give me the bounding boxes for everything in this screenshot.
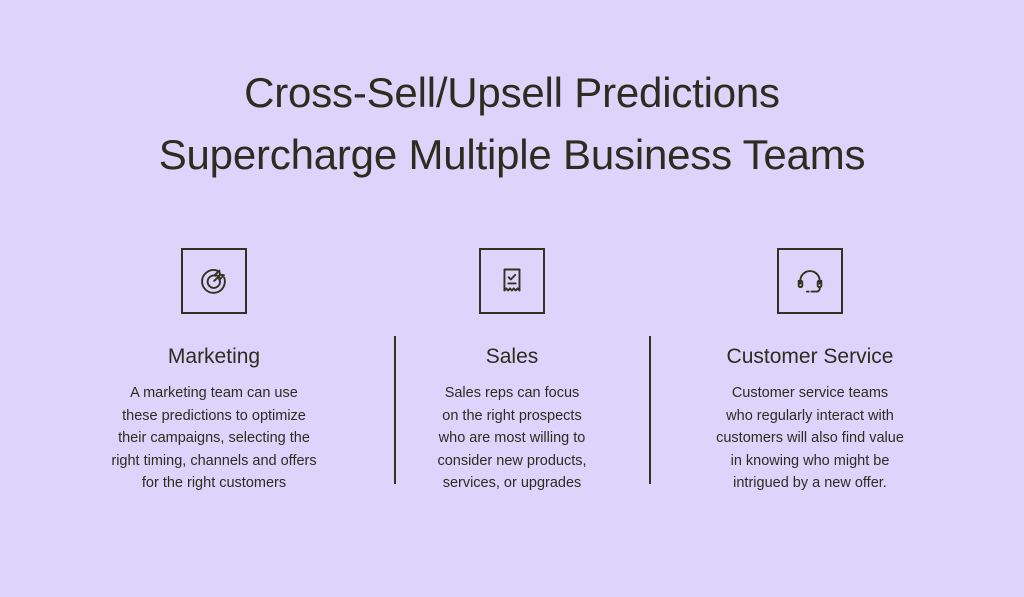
body-line: Sales reps can focus xyxy=(397,382,627,405)
title-line-2: Supercharge Multiple Business Teams xyxy=(0,124,1024,186)
body-line: their campaigns, selecting the xyxy=(99,427,329,450)
column-divider-1 xyxy=(394,336,396,484)
column-sales: Sales Sales reps can focus on the right … xyxy=(378,248,646,495)
body-line: on the right prospects xyxy=(397,405,627,428)
icon-frame-customer-service xyxy=(777,248,843,314)
column-heading-sales: Sales xyxy=(486,344,539,370)
icon-frame-sales xyxy=(479,248,545,314)
body-line: right timing, channels and offers xyxy=(99,450,329,473)
receipt-check-icon xyxy=(495,264,529,298)
body-line: these predictions to optimize xyxy=(99,405,329,428)
column-customer-service: Customer Service Customer service teams … xyxy=(676,248,944,495)
body-line: intrigued by a new offer. xyxy=(695,472,925,495)
column-body-customer-service: Customer service teams who regularly int… xyxy=(695,382,925,495)
body-line: who are most willing to xyxy=(397,427,627,450)
title-line-1: Cross-Sell/Upsell Predictions xyxy=(0,62,1024,124)
column-heading-marketing: Marketing xyxy=(168,344,260,370)
column-marketing: Marketing A marketing team can use these… xyxy=(80,248,348,495)
column-body-sales: Sales reps can focus on the right prospe… xyxy=(397,382,627,495)
icon-frame-marketing xyxy=(181,248,247,314)
body-line: customers will also find value xyxy=(695,427,925,450)
body-line: in knowing who might be xyxy=(695,450,925,473)
body-line: services, or upgrades xyxy=(397,472,627,495)
body-line: consider new products, xyxy=(397,450,627,473)
columns-container: Marketing A marketing team can use these… xyxy=(0,248,1024,495)
page-title: Cross-Sell/Upsell Predictions Supercharg… xyxy=(0,62,1024,186)
body-line: Customer service teams xyxy=(695,382,925,405)
column-divider-2 xyxy=(649,336,651,484)
headset-icon xyxy=(793,264,827,298)
target-dart-icon xyxy=(197,264,231,298)
body-line: who regularly interact with xyxy=(695,405,925,428)
column-body-marketing: A marketing team can use these predictio… xyxy=(99,382,329,495)
slide-root: Cross-Sell/Upsell Predictions Supercharg… xyxy=(0,0,1024,597)
column-heading-customer-service: Customer Service xyxy=(727,344,894,370)
body-line: A marketing team can use xyxy=(99,382,329,405)
body-line: for the right customers xyxy=(99,472,329,495)
